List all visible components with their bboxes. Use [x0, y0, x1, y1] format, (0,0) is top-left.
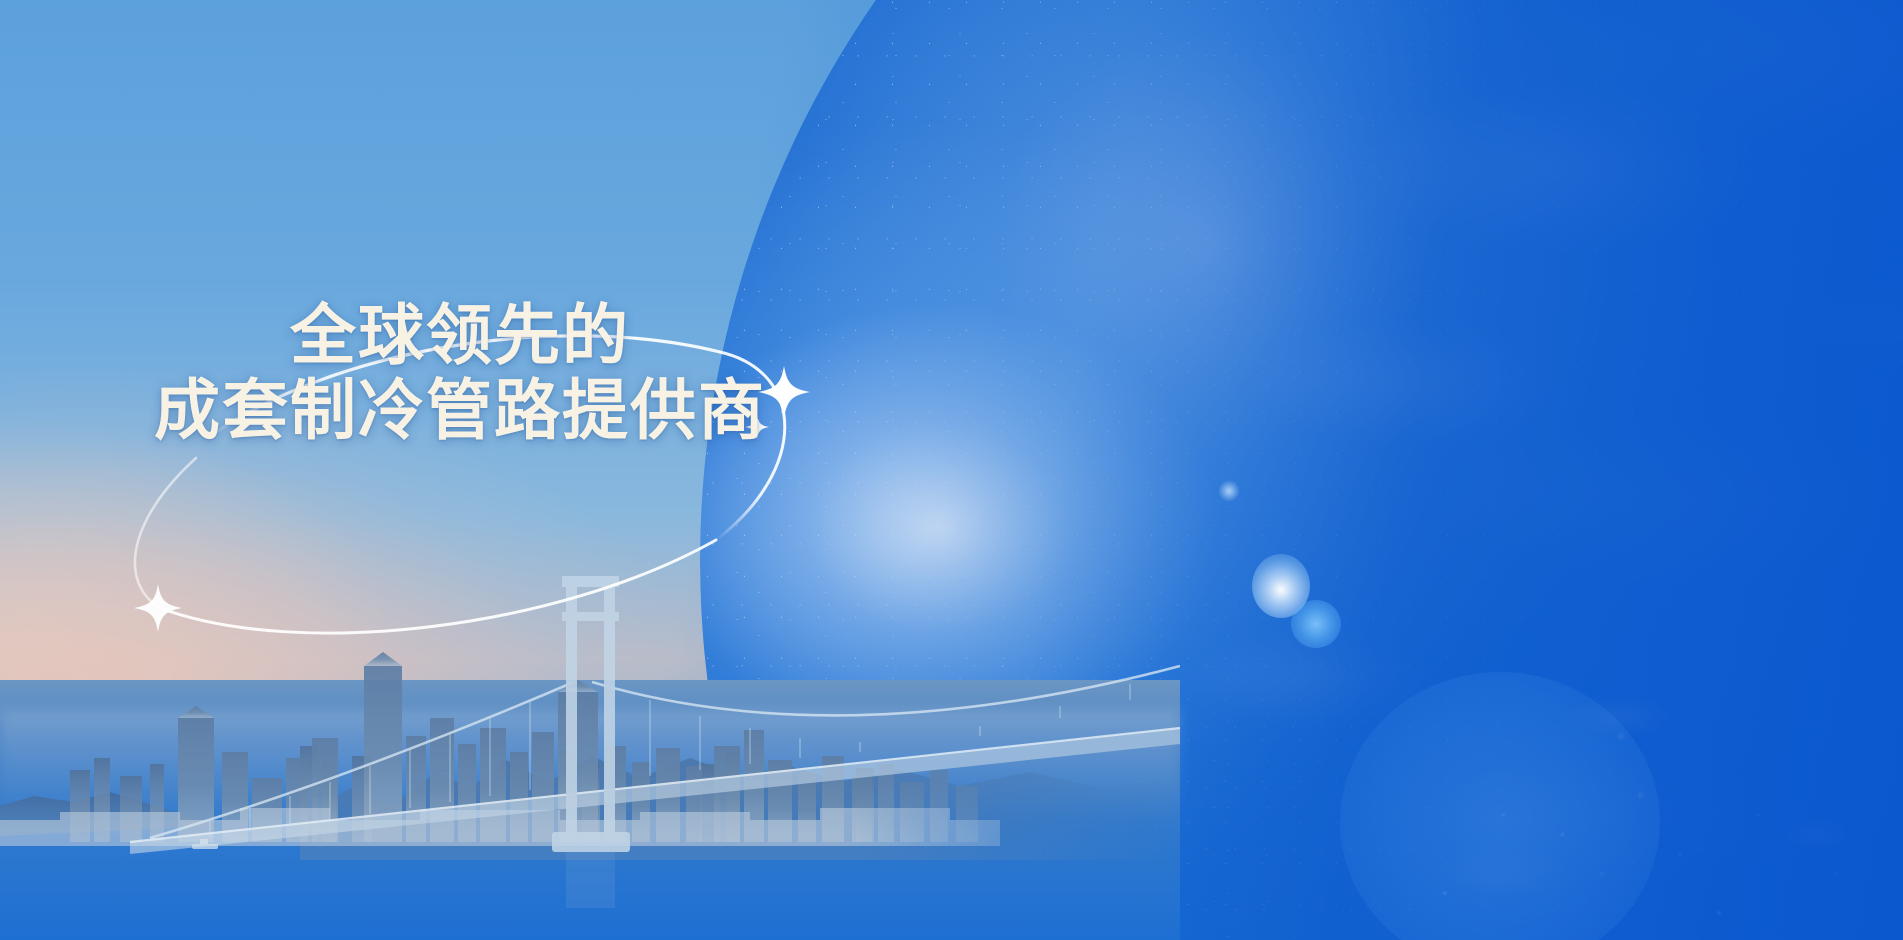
headline-line-1: 全球领先的	[0, 298, 920, 373]
city-scene	[0, 520, 1180, 940]
hero-banner: 全球领先的 成套制冷管路提供商	[0, 0, 1903, 940]
hero-headline: 全球领先的 成套制冷管路提供商	[0, 298, 920, 448]
headline-line-2: 成套制冷管路提供商	[0, 373, 920, 448]
